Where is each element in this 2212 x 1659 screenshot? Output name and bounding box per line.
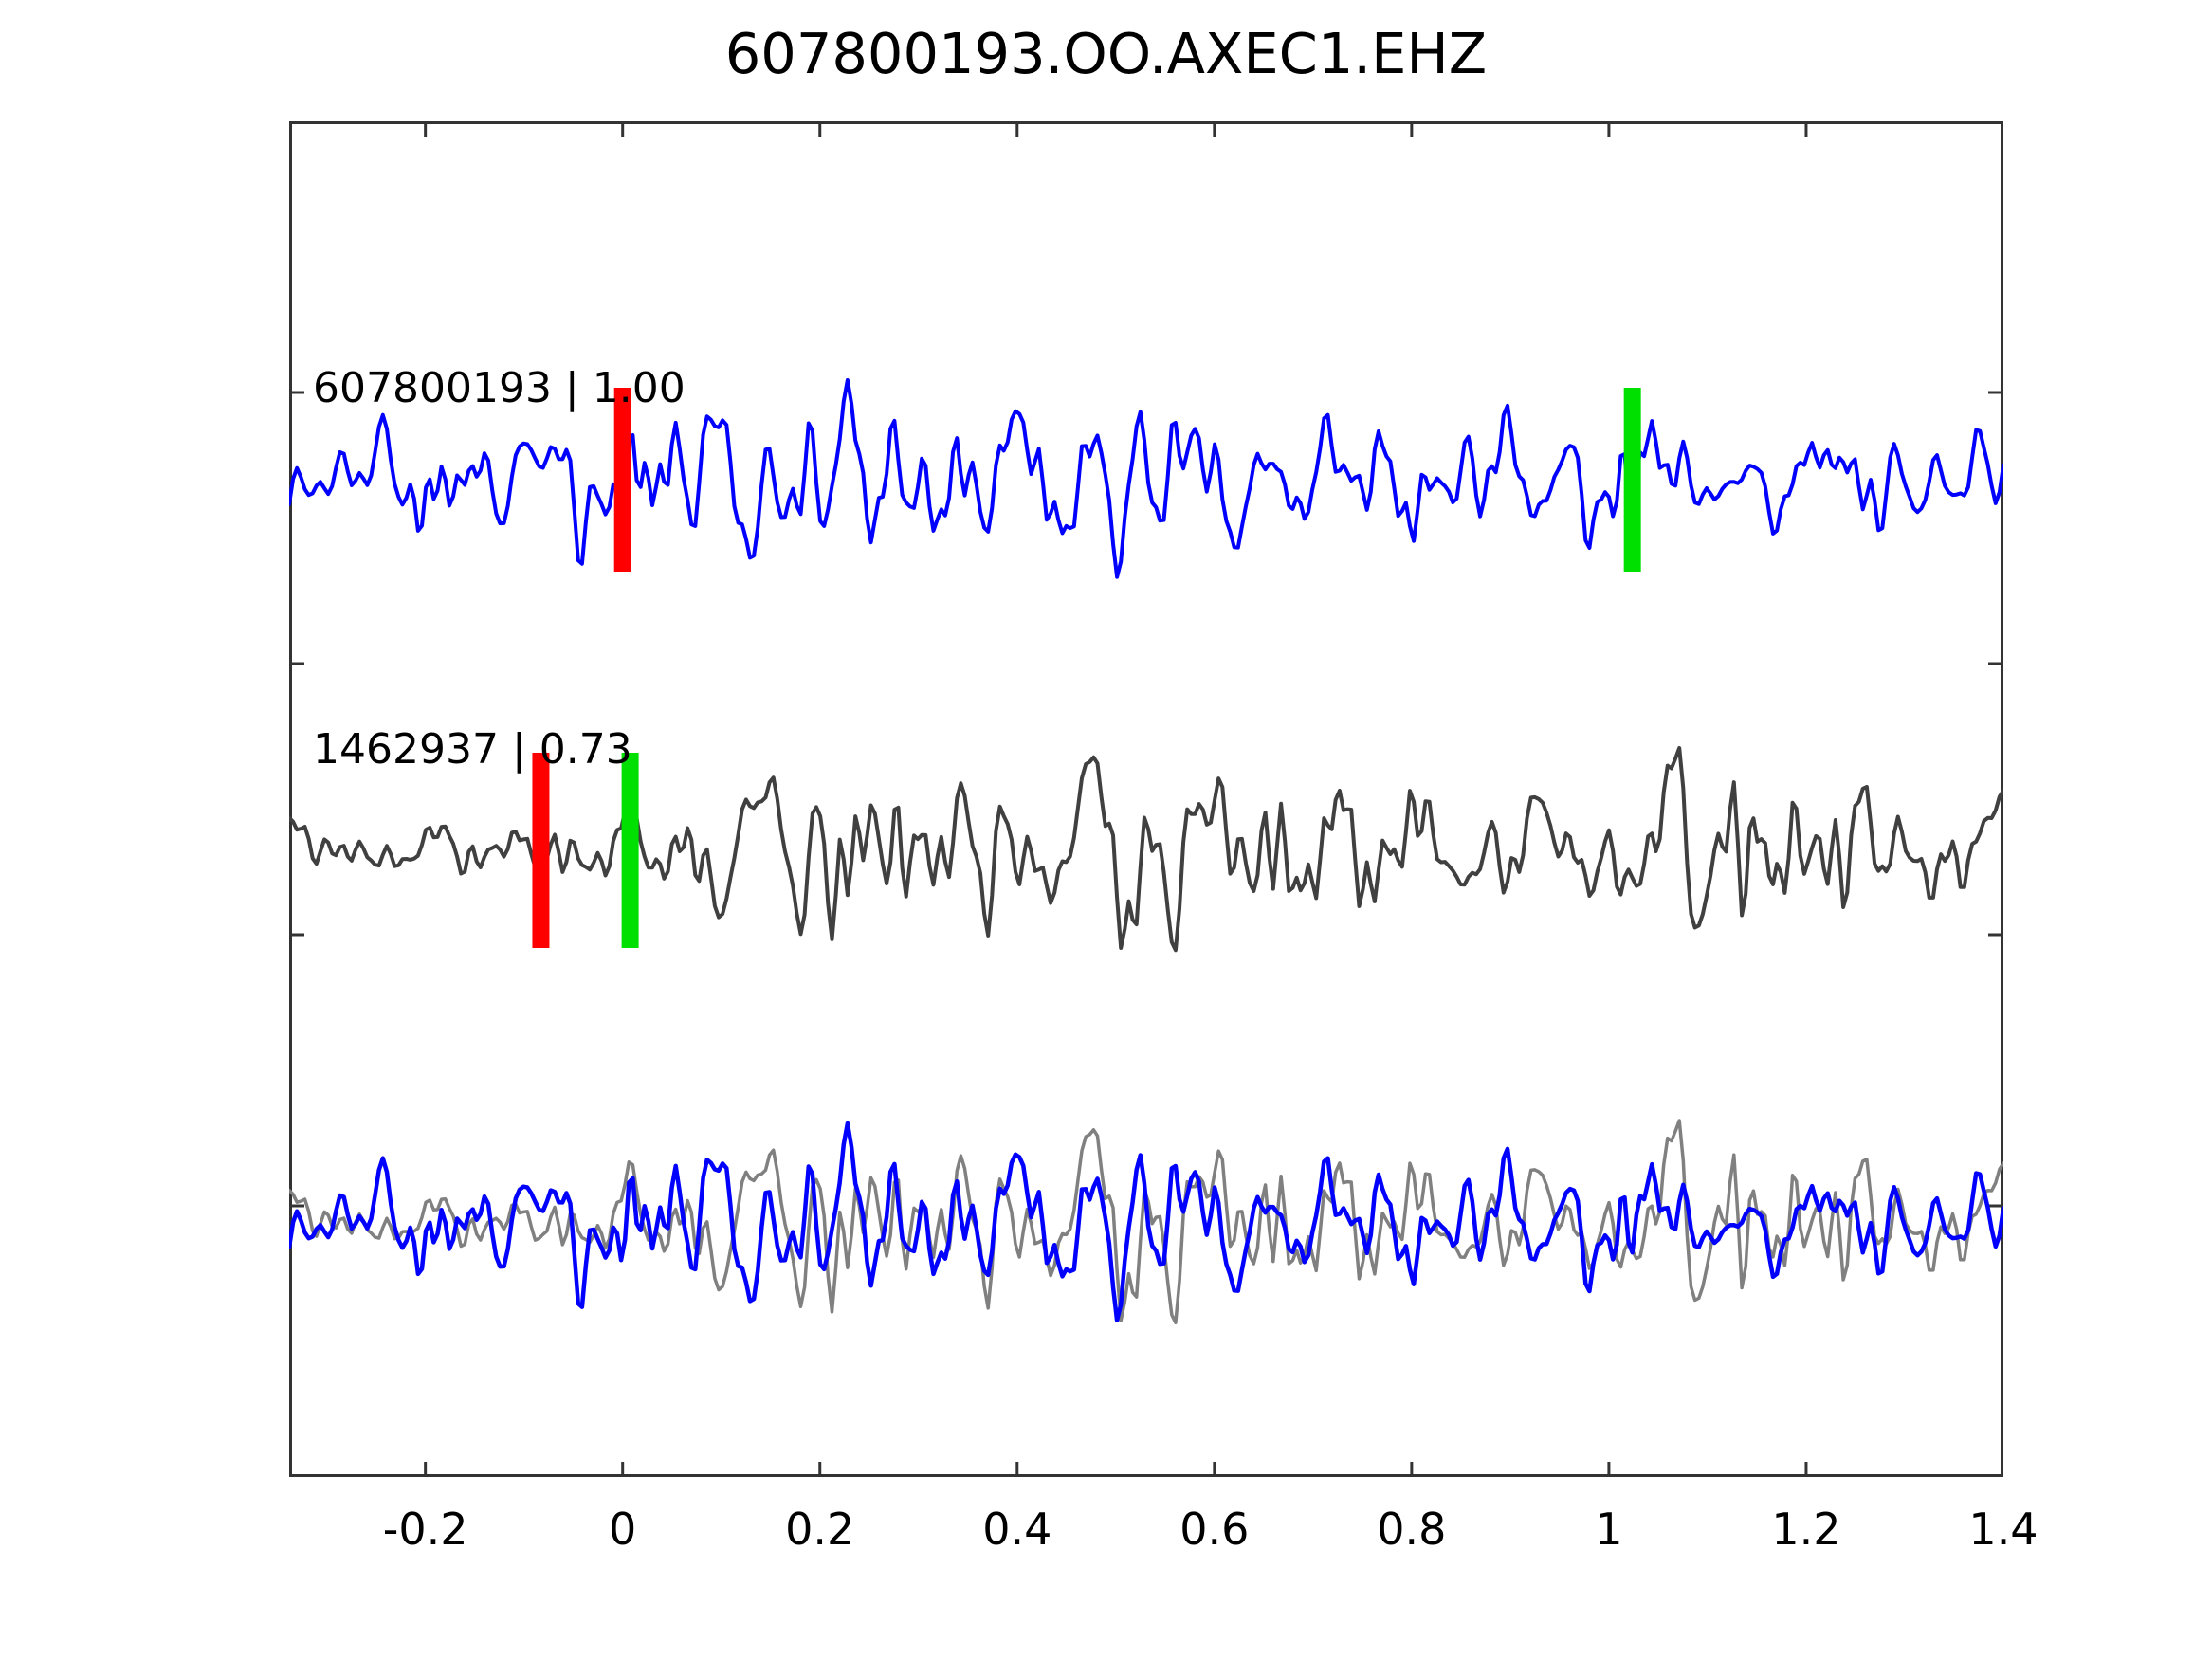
plot-axes <box>289 121 2003 1477</box>
x-tick-label: 0 <box>609 1504 636 1555</box>
x-tick-label: 1 <box>1595 1504 1622 1555</box>
waveform-plot-svg <box>289 121 2003 1477</box>
s-pick-marker-detection <box>622 753 639 948</box>
x-tick-label: 0.6 <box>1179 1504 1249 1555</box>
x-tick-label: 0.4 <box>982 1504 1051 1555</box>
x-tick-label: 1.4 <box>1968 1504 2038 1555</box>
x-tick-label: 1.2 <box>1771 1504 1840 1555</box>
trace-label-template-trace: 607800193 | 1.00 <box>313 364 686 412</box>
x-tick-label: 0.2 <box>785 1504 854 1555</box>
x-tick-label: -0.2 <box>383 1504 468 1555</box>
overlay-template-waveform <box>289 1123 2003 1321</box>
p-pick-marker-detection <box>532 753 549 948</box>
page-title: 607800193.OO.AXEC1.EHZ <box>0 21 2212 86</box>
trace-label-detection-trace: 1462937 | 0.73 <box>313 725 632 774</box>
p-pick-marker-template <box>614 388 631 572</box>
figure-canvas: 607800193.OO.AXEC1.EHZ -0.200.20.40.60.8… <box>0 0 2212 1659</box>
x-tick-label: 0.8 <box>1377 1504 1446 1555</box>
s-pick-marker-template <box>1624 388 1641 572</box>
